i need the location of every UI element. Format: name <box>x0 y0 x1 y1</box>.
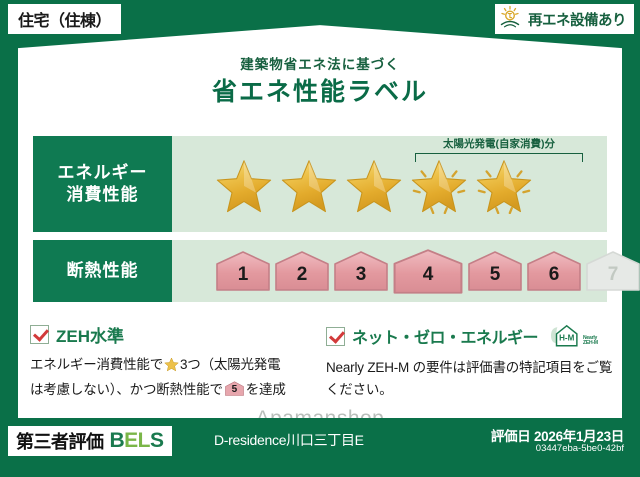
insulation-level-chip: 5 <box>225 381 244 396</box>
third-party-eval-label: 第三者評価 <box>16 428 104 454</box>
svg-text:H-M: H-M <box>559 334 574 343</box>
energy-performance-row: エネルギー 消費性能 太陽光発電(自家消費)分 <box>33 136 607 232</box>
insulation-level-7: 7 <box>585 250 640 292</box>
insulation-level-chip-value: 5 <box>225 381 244 396</box>
insulation-level-number: 1 <box>215 250 271 292</box>
check-icon <box>326 327 345 346</box>
insulation-level-number: 5 <box>467 250 523 292</box>
net-zero-energy-description: Nearly ZEH-M の要件は評価書の特記項目をご覧ください。 <box>326 357 618 401</box>
footer-bar: 第三者評価 BELS D-residence川口三丁目E 評価日 2026年1月… <box>0 418 640 477</box>
energy-performance-label: エネルギー 消費性能 <box>33 136 172 232</box>
zeh-desc-part1: エネルギー消費性能で <box>30 357 163 372</box>
energy-label-line1: エネルギー <box>58 162 148 184</box>
solar-generation-annotation: 太陽光発電(自家消費)分 <box>415 139 583 162</box>
insulation-level-number: 3 <box>333 250 389 292</box>
insulation-level-number: 7 <box>585 250 640 292</box>
insulation-level-3: 3 <box>333 250 389 292</box>
insulation-level-number: 6 <box>526 250 582 292</box>
insulation-level-1: 1 <box>215 250 271 292</box>
insulation-performance-label: 断熱性能 <box>33 240 172 302</box>
zeh-standard-description: エネルギー消費性能で 3つ（太陽光発電 は考慮しない）、かつ断熱性能で 5 を達… <box>30 354 322 401</box>
dwelling-type-label: 住宅（住棟） <box>18 7 111 31</box>
star-icon <box>213 154 275 214</box>
title-block: 建築物省エネ法に基づく 省エネ性能ラベル <box>0 58 640 105</box>
renewable-equipment-label: 再エネ設備あり <box>528 9 626 30</box>
zeh-m-logo-tag: Nearly ZEH-M <box>583 336 598 351</box>
dwelling-type-badge: 住宅（住棟） <box>8 4 121 34</box>
energy-label-card: 住宅（住棟） 再エネ設備あり 建築物省エネ法に基づく 省エネ性能ラベル <box>0 0 640 477</box>
insulation-label-text: 断熱性能 <box>67 260 139 282</box>
star-icon <box>278 154 340 214</box>
insulation-performance-row: 断熱性能 1 2 <box>33 240 607 302</box>
zeh-m-tag-line2: ZEH-M <box>583 340 598 346</box>
solar-bracket <box>415 153 583 162</box>
evaluation-date: 評価日 2026年1月23日 <box>491 425 624 445</box>
bels-letter-s: S <box>150 429 164 452</box>
zeh-standard-title: ZEH水準 <box>56 322 124 347</box>
building-name: D-residence川口三丁目E <box>214 430 364 450</box>
insulation-level-number: 2 <box>274 250 330 292</box>
zeh-desc-part3: は考慮しない）、かつ断熱性能で <box>30 382 223 397</box>
insulation-level-6: 6 <box>526 250 582 292</box>
net-zero-energy-header: ネット・ゼロ・エネルギー H-M Nearly ZEH-M <box>326 322 618 350</box>
insulation-level-5: 5 <box>467 250 523 292</box>
star-icon <box>473 154 535 214</box>
evaluation-id: 03447eba-5be0-42bf <box>536 443 624 454</box>
insulation-level-number: 4 <box>392 248 464 295</box>
bels-wordmark: BELS <box>110 429 164 453</box>
star-icon <box>164 357 179 379</box>
energy-label-line2: 消費性能 <box>67 184 139 206</box>
zeh-desc-part4: を達成 <box>246 382 286 397</box>
title-subtitle: 建築物省エネ法に基づく <box>0 58 640 72</box>
solar-generation-note: 太陽光発電(自家消費)分 <box>415 139 583 151</box>
star-icon <box>408 154 470 214</box>
net-zero-energy-block: ネット・ゼロ・エネルギー H-M Nearly ZEH-M Nearly ZEH… <box>326 322 618 401</box>
star-icon <box>343 154 405 214</box>
zeh-desc-part2: 3つ（太陽光発電 <box>180 357 280 372</box>
bels-letter-b: B <box>110 429 125 452</box>
net-zero-energy-title: ネット・ゼロ・エネルギー <box>352 324 538 348</box>
zeh-standard-block: ZEH水準 エネルギー消費性能で 3つ（太陽光発電 は考慮しない）、かつ断熱性能… <box>30 322 322 401</box>
sun-icon <box>499 5 525 33</box>
bels-logo: 第三者評価 BELS <box>8 426 172 456</box>
zeh-m-logo-icon: H-M Nearly ZEH-M <box>548 322 598 350</box>
insulation-scale: 1 2 3 <box>183 240 607 302</box>
insulation-level-4: 4 <box>392 248 464 295</box>
insulation-level-2: 2 <box>274 250 330 292</box>
renewable-equipment-badge: 再エネ設備あり <box>495 4 634 34</box>
check-icon <box>30 325 49 344</box>
page-title: 省エネ性能ラベル <box>0 80 640 105</box>
bels-letter-el: EL <box>124 429 150 452</box>
zeh-standard-header: ZEH水準 <box>30 322 322 347</box>
